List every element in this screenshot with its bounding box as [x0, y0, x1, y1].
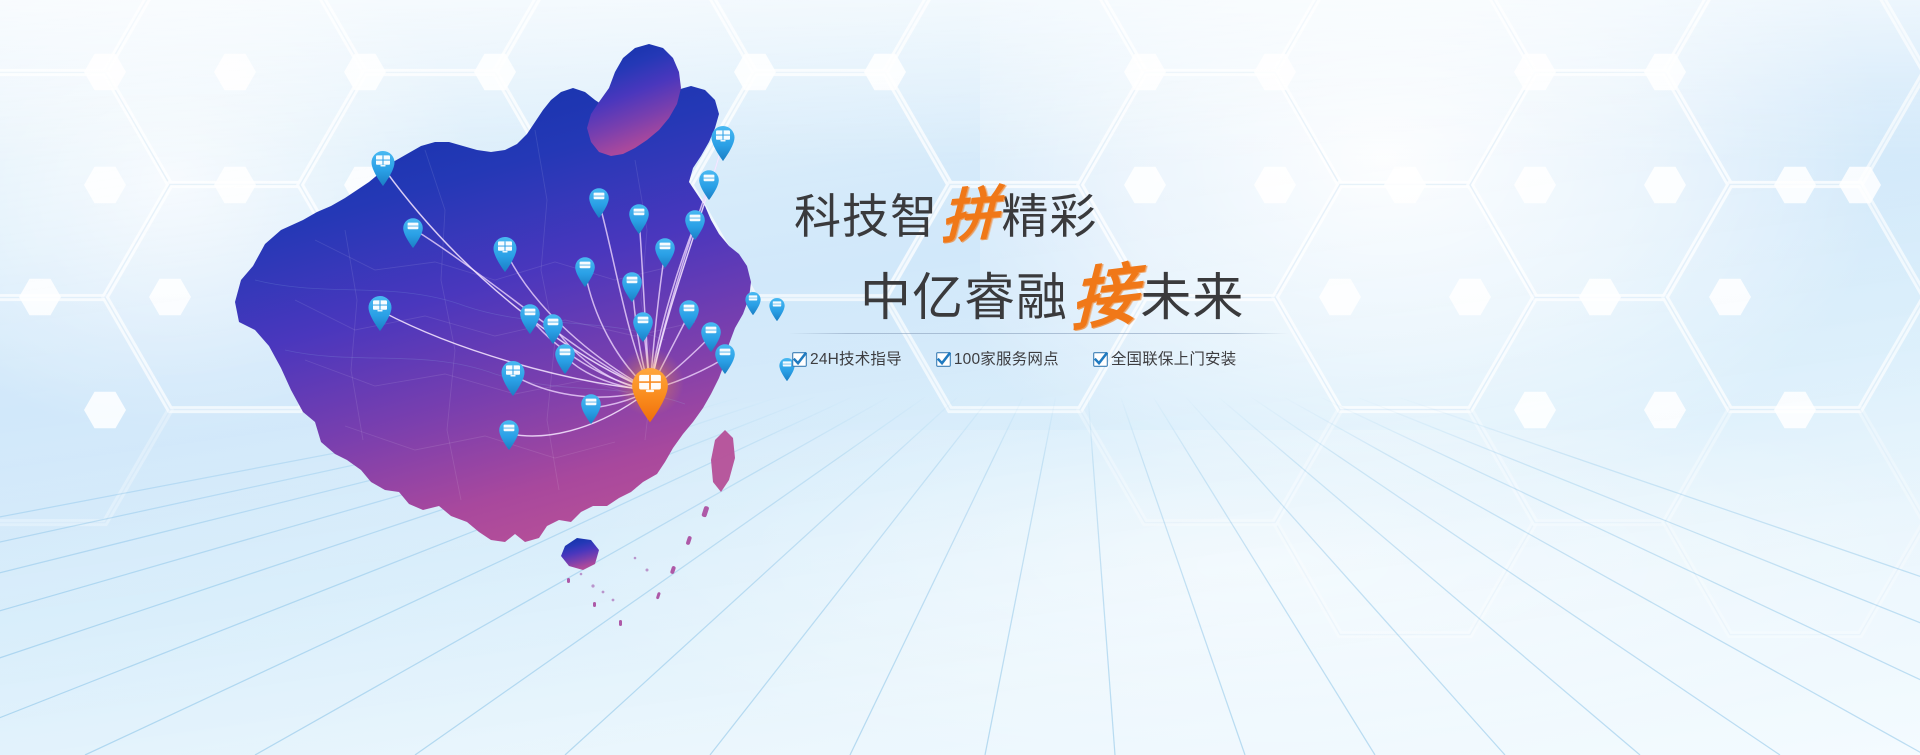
- china-service-network-map: [195, 30, 815, 640]
- headline-divider: [788, 333, 1288, 334]
- feature-item: 24H技术指导: [792, 352, 902, 368]
- headline-block: 科技智拼精彩 中亿睿融接未来: [786, 178, 1306, 341]
- headline-line-1-post: 精彩: [1001, 190, 1097, 243]
- check-box-icon: [1093, 352, 1108, 367]
- feature-label: 24H技术指导: [810, 352, 902, 368]
- feature-item: 100家服务网点: [936, 352, 1059, 368]
- check-box-icon: [936, 352, 951, 367]
- map-landmass: [235, 44, 751, 626]
- headline-line-2-pre: 中亿睿融: [860, 269, 1068, 326]
- headline-line-1-pre: 科技智: [794, 190, 938, 243]
- feature-label: 100家服务网点: [954, 352, 1059, 368]
- promo-banner: 科技智拼精彩 中亿睿融接未来 24H技术指导 100家服: [0, 0, 1920, 755]
- headline-line-1: 科技智拼精彩: [786, 178, 1306, 254]
- headline-line-2-accent: 接: [1068, 249, 1141, 346]
- headline-line-1-accent: 拼: [937, 175, 1001, 257]
- headline-line-2: 中亿睿融接未来: [786, 254, 1306, 342]
- headline-line-2-post: 未来: [1140, 269, 1244, 326]
- feature-item: 全国联保上门安装: [1093, 352, 1237, 368]
- feature-label: 全国联保上门安装: [1111, 352, 1237, 368]
- feature-list: 24H技术指导 100家服务网点 全国联保上门安装: [792, 352, 1236, 368]
- check-box-icon: [792, 352, 807, 367]
